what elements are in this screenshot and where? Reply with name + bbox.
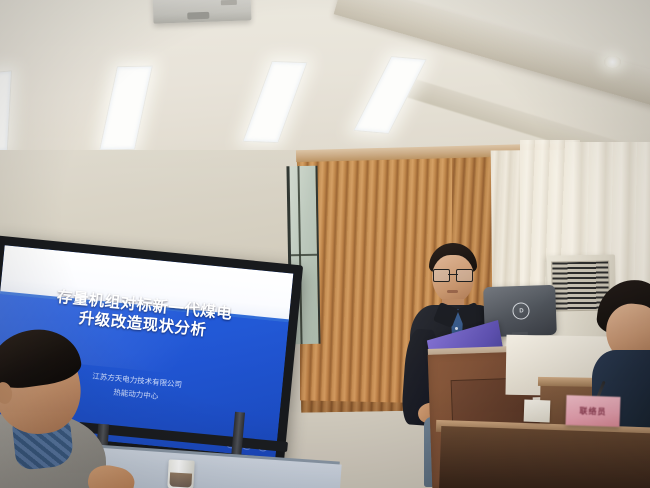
paper-cup[interactable] <box>167 459 195 488</box>
presenter-shirt-buttons <box>455 327 458 330</box>
front-desk <box>439 426 650 488</box>
white-name-card <box>524 400 551 423</box>
presenter-mouth <box>447 290 458 293</box>
dell-logo-icon: D <box>513 302 531 320</box>
pink-nameplate: 联络员 <box>565 395 620 427</box>
ceiling-downlight <box>604 56 621 68</box>
conference-room-photo: D 联络员 存量机组对标新一代煤电 升级改造现状分析 江苏方天电力技术有限公司 <box>0 0 650 488</box>
projector-label <box>221 0 237 5</box>
seated-attendee-left <box>0 330 150 488</box>
presenter-glasses-icon <box>433 269 473 280</box>
ceiling-projector <box>153 0 252 24</box>
